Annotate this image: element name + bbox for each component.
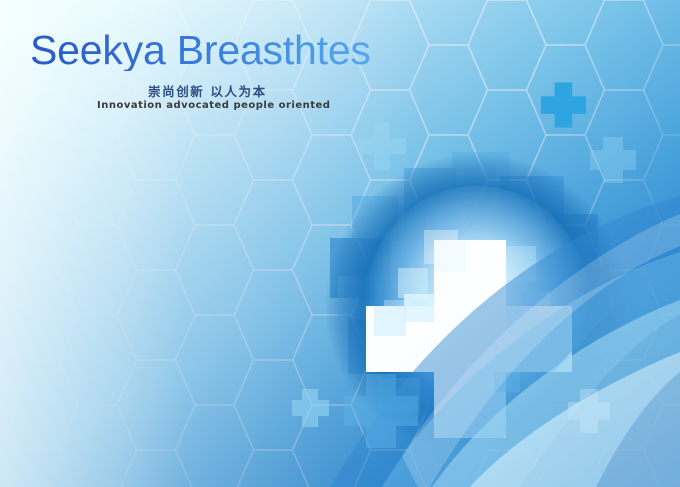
poster-artwork <box>0 0 680 487</box>
mosaic-square-lower <box>378 378 420 412</box>
background-left-vignette <box>0 0 300 487</box>
poster-canvas: Seekya Breasthtes 崇尚创新 以人为本 Innovation a… <box>0 0 680 487</box>
